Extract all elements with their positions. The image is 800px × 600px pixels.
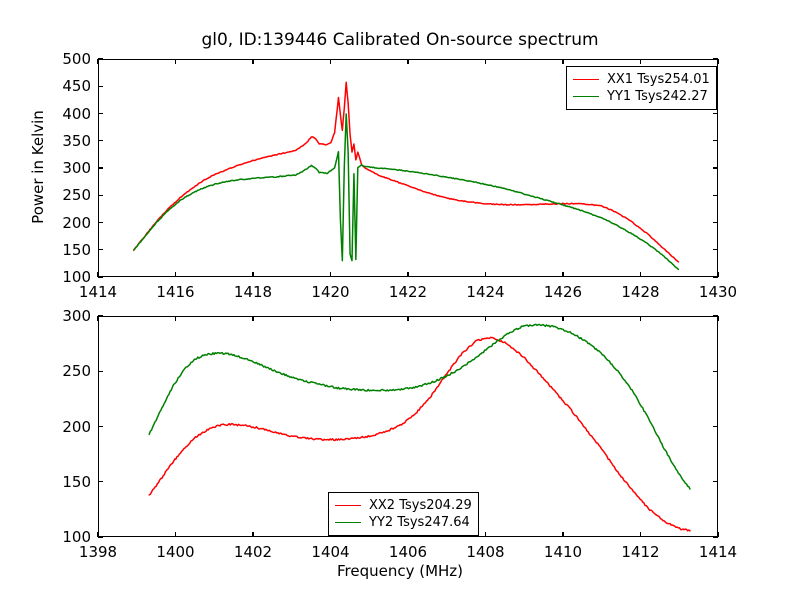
- legend-entry: YY1 Tsys242.27: [573, 88, 710, 105]
- y-tick-mark-right: [713, 371, 718, 372]
- y-tick-label: 350: [36, 132, 91, 150]
- y-tick-label: 300: [36, 307, 91, 325]
- x-tick-mark: [175, 532, 176, 537]
- x-tick-mark: [330, 272, 331, 277]
- x-tick-label: 1406: [389, 543, 427, 561]
- y-tick-mark-right: [713, 426, 718, 427]
- y-tick-mark: [98, 195, 103, 196]
- y-tick-label: 200: [36, 214, 91, 232]
- x-tick-label: 1416: [156, 283, 194, 301]
- x-tick-mark-top: [562, 59, 563, 64]
- x-tick-mark: [97, 272, 98, 277]
- x-tick-label: 1400: [156, 543, 194, 561]
- x-tick-mark: [252, 272, 253, 277]
- x-tick-mark: [407, 272, 408, 277]
- y-tick-mark-right: [713, 195, 718, 196]
- x-tick-mark-top: [717, 316, 718, 321]
- x-tick-mark: [562, 272, 563, 277]
- y-tick-label: 400: [36, 105, 91, 123]
- x-tick-label: 1424: [466, 283, 504, 301]
- x-tick-label: 1402: [234, 543, 272, 561]
- y-tick-mark: [98, 315, 103, 316]
- x-tick-label: 1430: [699, 283, 737, 301]
- y-tick-label: 250: [36, 362, 91, 380]
- y-tick-mark: [98, 481, 103, 482]
- x-tick-label: 1422: [389, 283, 427, 301]
- x-tick-mark-top: [252, 59, 253, 64]
- legend-line-swatch-xx2: [335, 505, 361, 506]
- legend-label-xx2: XX2 Tsys204.29: [369, 498, 472, 513]
- x-tick-label: 1414: [699, 543, 737, 561]
- x-tick-mark-top: [640, 316, 641, 321]
- x-tick-mark-top: [485, 59, 486, 64]
- y-tick-label: 150: [36, 473, 91, 491]
- x-tick-label: 1420: [311, 283, 349, 301]
- x-tick-label: 1398: [79, 543, 117, 561]
- x-tick-mark: [175, 272, 176, 277]
- x-tick-mark-top: [175, 316, 176, 321]
- legend-label-yy2: YY2 Tsys247.64: [369, 515, 470, 530]
- x-tick-mark-top: [252, 316, 253, 321]
- x-axis-label: Frequency (MHz): [0, 562, 800, 580]
- y-tick-mark: [98, 222, 103, 223]
- x-tick-label: 1404: [311, 543, 349, 561]
- x-tick-mark-top: [97, 59, 98, 64]
- x-tick-label: 1418: [234, 283, 272, 301]
- x-tick-mark: [97, 532, 98, 537]
- y-tick-mark: [98, 371, 103, 372]
- x-tick-label: 1410: [544, 543, 582, 561]
- y-tick-mark-right: [713, 113, 718, 114]
- legend-entry: YY2 Tsys247.64: [335, 514, 472, 531]
- figure-title: gl0, ID:139446 Calibrated On-source spec…: [0, 30, 800, 50]
- y-tick-mark: [98, 58, 103, 59]
- y-tick-label: 300: [36, 159, 91, 177]
- series-line: [149, 324, 690, 489]
- x-tick-mark: [485, 532, 486, 537]
- x-tick-mark-top: [407, 316, 408, 321]
- x-tick-label: 1408: [466, 543, 504, 561]
- y-tick-label: 250: [36, 186, 91, 204]
- x-tick-mark-top: [485, 316, 486, 321]
- x-tick-mark: [717, 532, 718, 537]
- legend-label-yy1: YY1 Tsys242.27: [607, 89, 708, 104]
- x-tick-label: 1428: [621, 283, 659, 301]
- y-tick-label: 450: [36, 77, 91, 95]
- y-tick-mark: [98, 140, 103, 141]
- figure-canvas: gl0, ID:139446 Calibrated On-source spec…: [0, 0, 800, 600]
- legend-label-xx1: XX1 Tsys254.01: [607, 72, 710, 87]
- y-tick-label: 200: [36, 418, 91, 436]
- bottom-plot-legend: XX2 Tsys204.29 YY2 Tsys247.64: [328, 492, 479, 536]
- x-tick-mark: [640, 532, 641, 537]
- x-tick-mark: [485, 272, 486, 277]
- x-tick-mark-top: [175, 59, 176, 64]
- legend-line-swatch-yy1: [573, 96, 599, 97]
- legend-line-swatch-yy2: [335, 522, 361, 523]
- x-tick-mark-top: [562, 316, 563, 321]
- x-tick-mark-top: [717, 59, 718, 64]
- x-tick-label: 1426: [544, 283, 582, 301]
- legend-entry: XX1 Tsys254.01: [573, 71, 710, 88]
- x-tick-mark-top: [407, 59, 408, 64]
- x-tick-mark: [252, 532, 253, 537]
- legend-line-swatch-xx1: [573, 79, 599, 80]
- x-tick-label: 1412: [621, 543, 659, 561]
- x-tick-mark-top: [97, 316, 98, 321]
- y-tick-mark: [98, 276, 103, 277]
- y-tick-mark-right: [713, 222, 718, 223]
- y-tick-mark: [98, 113, 103, 114]
- y-tick-mark: [98, 536, 103, 537]
- y-tick-mark: [98, 167, 103, 168]
- x-tick-mark-top: [640, 59, 641, 64]
- y-tick-mark-right: [713, 481, 718, 482]
- x-tick-mark: [562, 532, 563, 537]
- x-tick-mark-top: [330, 59, 331, 64]
- y-tick-mark-right: [713, 167, 718, 168]
- y-tick-mark-right: [713, 140, 718, 141]
- x-tick-label: 1414: [79, 283, 117, 301]
- y-tick-mark: [98, 86, 103, 87]
- y-tick-label: 500: [36, 50, 91, 68]
- y-tick-label: 150: [36, 241, 91, 259]
- x-tick-mark: [717, 272, 718, 277]
- x-tick-mark-top: [330, 316, 331, 321]
- y-tick-mark: [98, 426, 103, 427]
- y-tick-mark: [98, 249, 103, 250]
- series-line: [134, 114, 679, 269]
- y-tick-mark-right: [713, 249, 718, 250]
- legend-entry: XX2 Tsys204.29: [335, 497, 472, 514]
- x-tick-mark: [640, 272, 641, 277]
- top-plot-legend: XX1 Tsys254.01 YY1 Tsys242.27: [566, 66, 717, 110]
